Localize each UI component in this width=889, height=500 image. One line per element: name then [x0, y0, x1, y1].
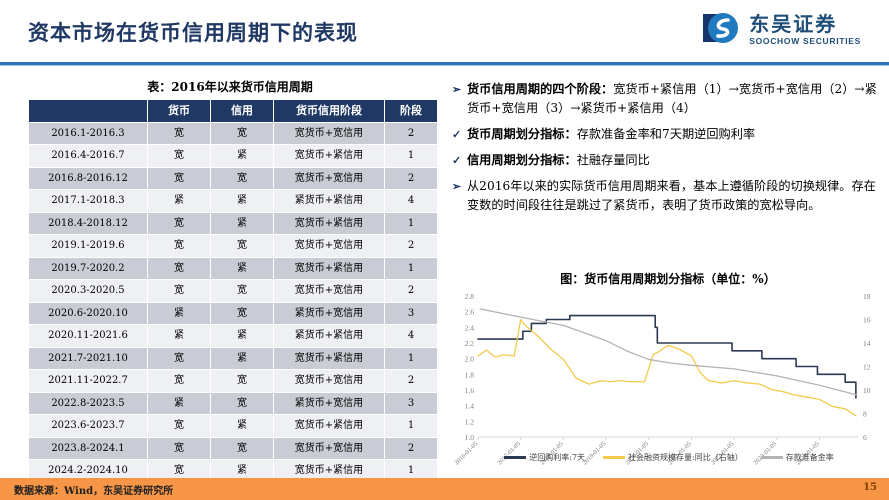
col-header-period: [29, 100, 148, 123]
cell-period: 2020.6-2020.10: [29, 302, 148, 325]
legend-label: 逆回购利率:7天: [529, 452, 585, 463]
y-axis-right-tick: 6: [863, 433, 867, 442]
cell-stage: 2: [385, 167, 438, 190]
cell-phase: 紧货币+宽信用: [274, 392, 385, 415]
table-row: 2021.7-2021.10宽紧宽货币+紧信用1: [29, 347, 438, 370]
table-head: 货币 信用 货币信用阶段 阶段: [29, 100, 438, 123]
table-row: 2019.1-2019.6宽宽宽货币+宽信用2: [29, 235, 438, 258]
bullet-item: ➢从2016年以来的实际货币信用周期来看，基本上遵循阶段的切换规律。存在变数的时…: [452, 177, 884, 215]
cell-phase: 宽货币+紧信用: [274, 212, 385, 235]
table-row: 2019.7-2020.2宽紧宽货币+紧信用1: [29, 257, 438, 280]
data-source-label: 数据来源：Wind，东吴证券研究所: [14, 482, 173, 497]
y-axis-left-tick: 2.4: [465, 323, 475, 332]
cell-money: 宽: [148, 167, 211, 190]
cell-money: 紧: [148, 302, 211, 325]
legend-label: 存款准备金率: [786, 452, 834, 463]
cell-phase: 宽货币+宽信用: [274, 437, 385, 460]
y-axis-right-tick: 12: [863, 363, 871, 372]
y-axis-left-tick: 2.0: [465, 355, 475, 364]
cell-money: 紧: [148, 392, 211, 415]
y-axis-left-tick: 2.8: [465, 292, 475, 301]
bullet-text: 货币周期划分指标：存款准备金率和7天期逆回购利率: [467, 125, 884, 144]
table-body: 2016.1-2016.3宽宽宽货币+宽信用22016.4-2016.7宽紧宽货…: [29, 122, 438, 482]
cell-money: 宽: [148, 122, 211, 145]
cell-phase: 宽货币+紧信用: [274, 347, 385, 370]
table-row: 2016.1-2016.3宽宽宽货币+宽信用2: [29, 122, 438, 145]
cell-phase: 宽货币+宽信用: [274, 235, 385, 258]
col-header-stage: 阶段: [385, 100, 438, 123]
page-number: 15: [863, 482, 877, 493]
cell-credit: 紧: [211, 145, 274, 168]
table-row: 2023.8-2024.1宽宽宽货币+宽信用2: [29, 437, 438, 460]
cell-phase: 宽货币+宽信用: [274, 280, 385, 303]
legend-label: 社会融资规模存量:同比（右轴）: [628, 452, 743, 463]
cell-phase: 紧货币+紧信用: [274, 190, 385, 213]
chart-caption: 图：货币信用周期划分指标（单位：%）: [452, 270, 884, 287]
cell-period: 2016.4-2016.7: [29, 145, 148, 168]
y-axis-left-tick: 1.0: [465, 433, 475, 442]
cell-phase: 宽货币+紧信用: [274, 415, 385, 438]
cell-period: 2016.1-2016.3: [29, 122, 148, 145]
cell-credit: 宽: [211, 235, 274, 258]
series-line: [478, 316, 856, 398]
cell-stage: 2: [385, 235, 438, 258]
legend-swatch-icon: [603, 456, 625, 459]
cell-period: 2023.8-2024.1: [29, 437, 148, 460]
bullet-text: 货币信用周期的四个阶段：宽货币+紧信用（1）→宽货币+宽信用（2）→紧货币+宽信…: [467, 80, 884, 118]
cell-phase: 宽货币+紧信用: [274, 257, 385, 280]
table-row: 2023.6-2023.7宽紧宽货币+紧信用1: [29, 415, 438, 438]
check-icon: ✓: [452, 151, 467, 169]
cell-stage: 3: [385, 302, 438, 325]
cell-credit: 宽: [211, 122, 274, 145]
y-axis-left-tick: 1.2: [465, 417, 475, 426]
cell-phase: 宽货币+宽信用: [274, 167, 385, 190]
cell-period: 2021.11-2022.7: [29, 370, 148, 393]
cell-money: 宽: [148, 370, 211, 393]
cell-money: 宽: [148, 257, 211, 280]
bullet-item: ✓信用周期划分指标：社融存量同比: [452, 151, 884, 170]
cell-stage: 1: [385, 347, 438, 370]
legend-swatch-icon: [504, 456, 526, 459]
cell-stage: 4: [385, 190, 438, 213]
cell-stage: 1: [385, 257, 438, 280]
cell-period: 2017.1-2018.3: [29, 190, 148, 213]
cell-credit: 宽: [211, 302, 274, 325]
cell-credit: 紧: [211, 190, 274, 213]
cell-stage: 3: [385, 392, 438, 415]
legend-item: 逆回购利率:7天: [504, 452, 585, 463]
y-axis-left-tick: 2.2: [465, 339, 475, 348]
brand-text: 东吴证券 SOOCHOW SECURITIES: [749, 14, 861, 46]
cell-period: 2018.4-2018.12: [29, 212, 148, 235]
chart-tick-labels: 1.01.21.41.61.82.02.22.42.62.86810121416…: [453, 292, 870, 467]
cell-period: 2019.1-2019.6: [29, 235, 148, 258]
brand-name-en: SOOCHOW SECURITIES: [749, 37, 861, 46]
y-axis-left-tick: 1.8: [465, 370, 475, 379]
table-row: 2020.11-2021.6紧紧紧货币+紧信用4: [29, 325, 438, 348]
cell-credit: 宽: [211, 167, 274, 190]
cell-phase: 宽货币+紧信用: [274, 145, 385, 168]
cell-money: 宽: [148, 437, 211, 460]
cell-period: 2016.8-2016.12: [29, 167, 148, 190]
y-axis-right-tick: 10: [863, 386, 871, 395]
y-axis-left-tick: 2.6: [465, 308, 475, 317]
y-axis-right-tick: 16: [863, 316, 871, 325]
y-axis-left-tick: 1.6: [465, 386, 475, 395]
table-row: 2021.11-2022.7宽宽宽货币+宽信用2: [29, 370, 438, 393]
chart-legend: 逆回购利率:7天社会融资规模存量:同比（右轴）存款准备金率: [452, 452, 886, 463]
bullet-item: ➢货币信用周期的四个阶段：宽货币+紧信用（1）→宽货币+宽信用（2）→紧货币+宽…: [452, 80, 884, 118]
cell-credit: 紧: [211, 212, 274, 235]
table-row: 2018.4-2018.12宽紧宽货币+紧信用1: [29, 212, 438, 235]
cell-money: 宽: [148, 415, 211, 438]
table-row: 2020.3-2020.5宽宽宽货币+宽信用2: [29, 280, 438, 303]
table-caption: 表：2016年以来货币信用周期: [28, 78, 432, 95]
cell-money: 紧: [148, 325, 211, 348]
cell-money: 宽: [148, 347, 211, 370]
cell-phase: 宽货币+宽信用: [274, 370, 385, 393]
cell-stage: 1: [385, 212, 438, 235]
cell-period: 2021.7-2021.10: [29, 347, 148, 370]
cell-stage: 4: [385, 325, 438, 348]
cell-stage: 1: [385, 415, 438, 438]
cell-period: 2019.7-2020.2: [29, 257, 148, 280]
cell-stage: 2: [385, 122, 438, 145]
cell-stage: 2: [385, 437, 438, 460]
cell-credit: 紧: [211, 415, 274, 438]
cell-period: 2020.11-2021.6: [29, 325, 148, 348]
soochow-logo-icon: [702, 10, 742, 50]
chart-series-group: [478, 309, 856, 416]
col-header-credit: 信用: [211, 100, 274, 123]
cell-money: 宽: [148, 235, 211, 258]
check-icon: ✓: [452, 125, 467, 143]
legend-item: 存款准备金率: [761, 452, 834, 463]
table-row: 2022.8-2023.5紧宽紧货币+宽信用3: [29, 392, 438, 415]
cell-credit: 紧: [211, 257, 274, 280]
y-axis-right-tick: 8: [863, 410, 867, 419]
bullet-text: 信用周期划分指标：社融存量同比: [467, 151, 884, 170]
table-row: 2016.8-2016.12宽宽宽货币+宽信用2: [29, 167, 438, 190]
y-axis-left-tick: 1.4: [465, 402, 475, 411]
cell-stage: 2: [385, 280, 438, 303]
table-row: 2017.1-2018.3紧紧紧货币+紧信用4: [29, 190, 438, 213]
monetary-credit-cycle-table: 货币 信用 货币信用阶段 阶段 2016.1-2016.3宽宽宽货币+宽信用22…: [28, 99, 438, 483]
y-axis-right-tick: 14: [863, 339, 871, 348]
bullet-item: ✓货币周期划分指标：存款准备金率和7天期逆回购利率: [452, 125, 884, 144]
series-line: [480, 309, 856, 395]
cell-credit: 紧: [211, 325, 274, 348]
footer-bar: 数据来源：Wind，东吴证券研究所 15: [0, 478, 889, 500]
slide-header: 资本市场在货币信用周期下的表现 东吴证券 SOOCHOW SECURITIES: [0, 0, 889, 62]
cell-money: 宽: [148, 145, 211, 168]
brand-name-cn: 东吴证券: [749, 14, 861, 34]
col-header-money: 货币: [148, 100, 211, 123]
col-header-phase: 货币信用阶段: [274, 100, 385, 123]
bullet-list: ➢货币信用周期的四个阶段：宽货币+紧信用（1）→宽货币+宽信用（2）→紧货币+宽…: [452, 80, 884, 221]
cell-credit: 紧: [211, 347, 274, 370]
table-row: 2020.6-2020.10紧宽紧货币+宽信用3: [29, 302, 438, 325]
cell-phase: 紧货币+宽信用: [274, 302, 385, 325]
cell-money: 宽: [148, 212, 211, 235]
cell-period: 2020.3-2020.5: [29, 280, 148, 303]
cell-period: 2023.6-2023.7: [29, 415, 148, 438]
series-line: [478, 320, 856, 416]
cell-stage: 1: [385, 145, 438, 168]
cell-money: 宽: [148, 280, 211, 303]
legend-item: 社会融资规模存量:同比（右轴）: [603, 452, 743, 463]
cell-phase: 宽货币+宽信用: [274, 122, 385, 145]
bullet-text: 从2016年以来的实际货币信用周期来看，基本上遵循阶段的切换规律。存在变数的时间…: [467, 177, 884, 215]
legend-swatch-icon: [761, 456, 783, 459]
brand-logo: 东吴证券 SOOCHOW SECURITIES: [702, 10, 861, 50]
cell-credit: 宽: [211, 280, 274, 303]
table-row: 2016.4-2016.7宽紧宽货币+紧信用1: [29, 145, 438, 168]
cell-stage: 2: [385, 370, 438, 393]
table-header-row: 货币 信用 货币信用阶段 阶段: [29, 100, 438, 123]
cell-phase: 紧货币+紧信用: [274, 325, 385, 348]
arrow-bullet-icon: ➢: [452, 177, 467, 195]
header-divider-thin: [0, 65, 889, 66]
arrow-bullet-icon: ➢: [452, 80, 467, 98]
cell-credit: 宽: [211, 437, 274, 460]
cell-credit: 宽: [211, 370, 274, 393]
cell-money: 紧: [148, 190, 211, 213]
cell-credit: 宽: [211, 392, 274, 415]
cell-period: 2022.8-2023.5: [29, 392, 148, 415]
y-axis-right-tick: 18: [863, 292, 871, 301]
page-title: 资本市场在货币信用周期下的表现: [28, 17, 358, 47]
chart-axes: [478, 437, 858, 440]
